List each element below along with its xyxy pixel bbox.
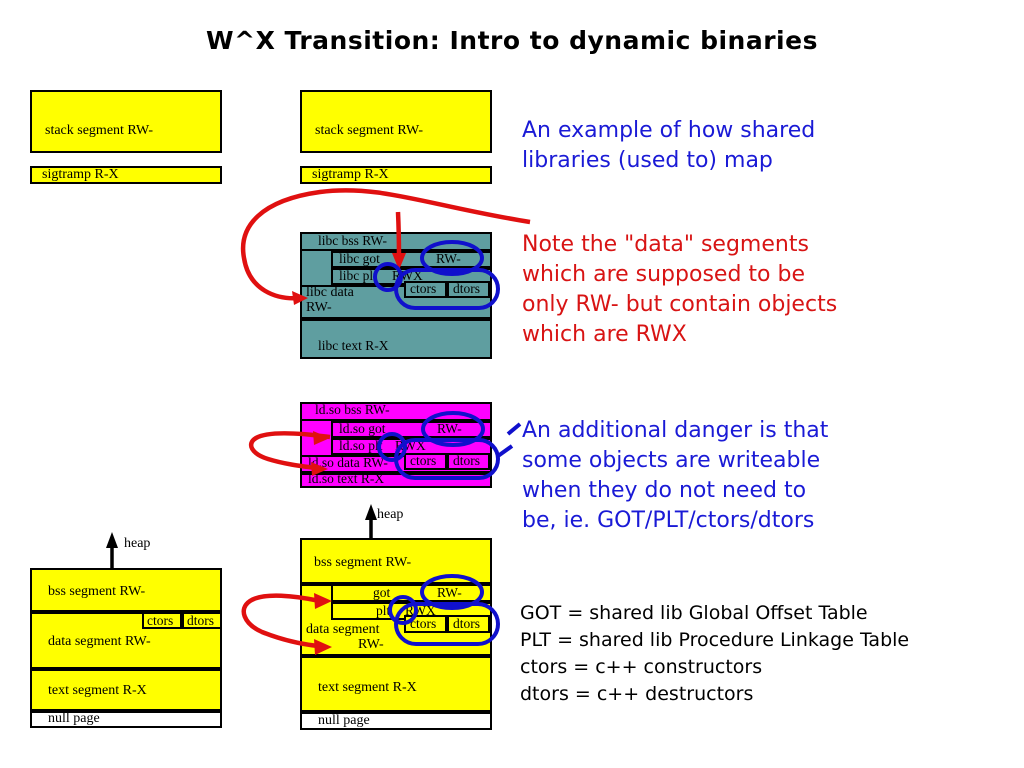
mid-text-segment-box: text segment R-X <box>300 656 492 712</box>
mid-stack-segment-label: stack segment RW- <box>315 123 423 139</box>
ldso-got-perm-label: RW- <box>437 421 462 437</box>
ldso-got-box: ld.so got RW- <box>331 421 492 438</box>
slide-canvas: W^X Transition: Intro to dynamic binarie… <box>0 0 1024 768</box>
libc-dtors-box: dtors <box>447 281 490 298</box>
mid-sigtramp-label: sigtramp R-X <box>312 167 389 183</box>
note-data-segments: Note the "data" segments which are suppo… <box>522 230 837 350</box>
mid-bss-segment-box: bss segment RW- <box>300 538 492 584</box>
left-sigtramp-label: sigtramp R-X <box>42 167 119 183</box>
mid-data-segment-label-line1: data segment <box>306 622 379 638</box>
libc-data-label-line1: libc data <box>306 285 354 301</box>
libc-bss-box: libc bss RW- <box>300 232 492 251</box>
legend-abbreviations: GOT = shared lib Global Offset Table PLT… <box>520 600 909 708</box>
ldso-text-label: ld.so text R-X <box>308 471 384 487</box>
libc-text-box: libc text R-X <box>300 319 492 359</box>
libc-dtors-label: dtors <box>453 281 480 297</box>
ldso-dtors-box: dtors <box>447 453 490 470</box>
ldso-data-label: ld.so data RW- <box>308 455 388 471</box>
ldso-bss-box: ld.so bss RW- <box>300 402 492 421</box>
mid-ctors-label: ctors <box>410 616 436 632</box>
mid-plt-label: plt <box>376 603 390 619</box>
ldso-dtors-label: dtors <box>453 453 480 469</box>
left-null-page-box: null page <box>30 711 222 728</box>
mid-null-page-box: null page <box>300 712 492 730</box>
mid-bss-segment-label: bss segment RW- <box>314 555 411 571</box>
left-stack-segment-label: stack segment RW- <box>45 123 153 139</box>
mid-data-segment-label-line2: RW- <box>358 637 384 653</box>
left-bss-segment-label: bss segment RW- <box>48 584 145 600</box>
ldso-text-box: ld.so text R-X <box>300 473 492 488</box>
ldso-note-pointer-stroke <box>498 446 512 456</box>
left-sigtramp-box: sigtramp R-X <box>30 166 222 184</box>
libc-ctors-box: ctors <box>404 281 447 298</box>
libc-bss-label: libc bss RW- <box>318 233 387 249</box>
libc-got-label: libc got <box>339 251 380 267</box>
ldso-plt-label: ld.so plt <box>339 438 383 454</box>
mid-got-box: got RW- <box>331 584 492 602</box>
left-data-segment-label: data segment RW- <box>48 634 151 650</box>
left-dtors-label: dtors <box>187 613 214 629</box>
libc-ctors-label: ctors <box>410 281 436 297</box>
left-bss-segment-box: bss segment RW- <box>30 568 222 612</box>
left-stack-segment-box: stack segment RW- <box>30 90 222 153</box>
mid-got-perm-label: RW- <box>437 585 462 601</box>
libc-got-box: libc got RW- <box>331 251 492 268</box>
ldso-ctors-box: ctors <box>404 453 447 470</box>
left-heap-label: heap <box>124 536 150 552</box>
left-ctors-box: ctors <box>142 612 182 629</box>
left-dtors-box: dtors <box>182 612 222 629</box>
mid-sigtramp-box: sigtramp R-X <box>300 166 492 184</box>
left-null-page-label: null page <box>48 711 100 727</box>
mid-got-label: got <box>373 585 390 601</box>
ldso-bss-label: ld.so bss RW- <box>315 402 390 418</box>
ldso-ctors-label: ctors <box>410 453 436 469</box>
mid-null-page-label: null page <box>318 713 370 729</box>
ldso-plt-perm-label: RWX <box>395 438 426 454</box>
note-shared-libraries: An example of how shared libraries (used… <box>522 116 815 176</box>
left-heap-arrow <box>106 532 118 568</box>
mid-ctors-box: ctors <box>404 615 447 633</box>
left-text-segment-label: text segment R-X <box>48 683 147 699</box>
mid-dtors-box: dtors <box>447 615 490 633</box>
libc-plt-label: libc plt <box>339 268 377 284</box>
page-title: W^X Transition: Intro to dynamic binarie… <box>0 26 1024 55</box>
libc-text-label: libc text R-X <box>318 338 389 354</box>
mid-text-segment-label: text segment R-X <box>318 680 417 696</box>
ldso-got-label: ld.so got <box>339 421 386 437</box>
additional-danger-pointer-stroke <box>508 424 520 434</box>
mid-dtors-label: dtors <box>453 616 480 632</box>
libc-got-perm-label: RW- <box>436 251 461 267</box>
mid-stack-segment-box: stack segment RW- <box>300 90 492 153</box>
note-additional-danger: An additional danger is that some object… <box>522 416 828 536</box>
mid-heap-arrow <box>365 504 377 538</box>
mid-heap-label: heap <box>377 507 403 523</box>
libc-data-label-line2: RW- <box>306 300 332 316</box>
left-text-segment-box: text segment R-X <box>30 669 222 711</box>
left-ctors-label: ctors <box>147 613 173 629</box>
